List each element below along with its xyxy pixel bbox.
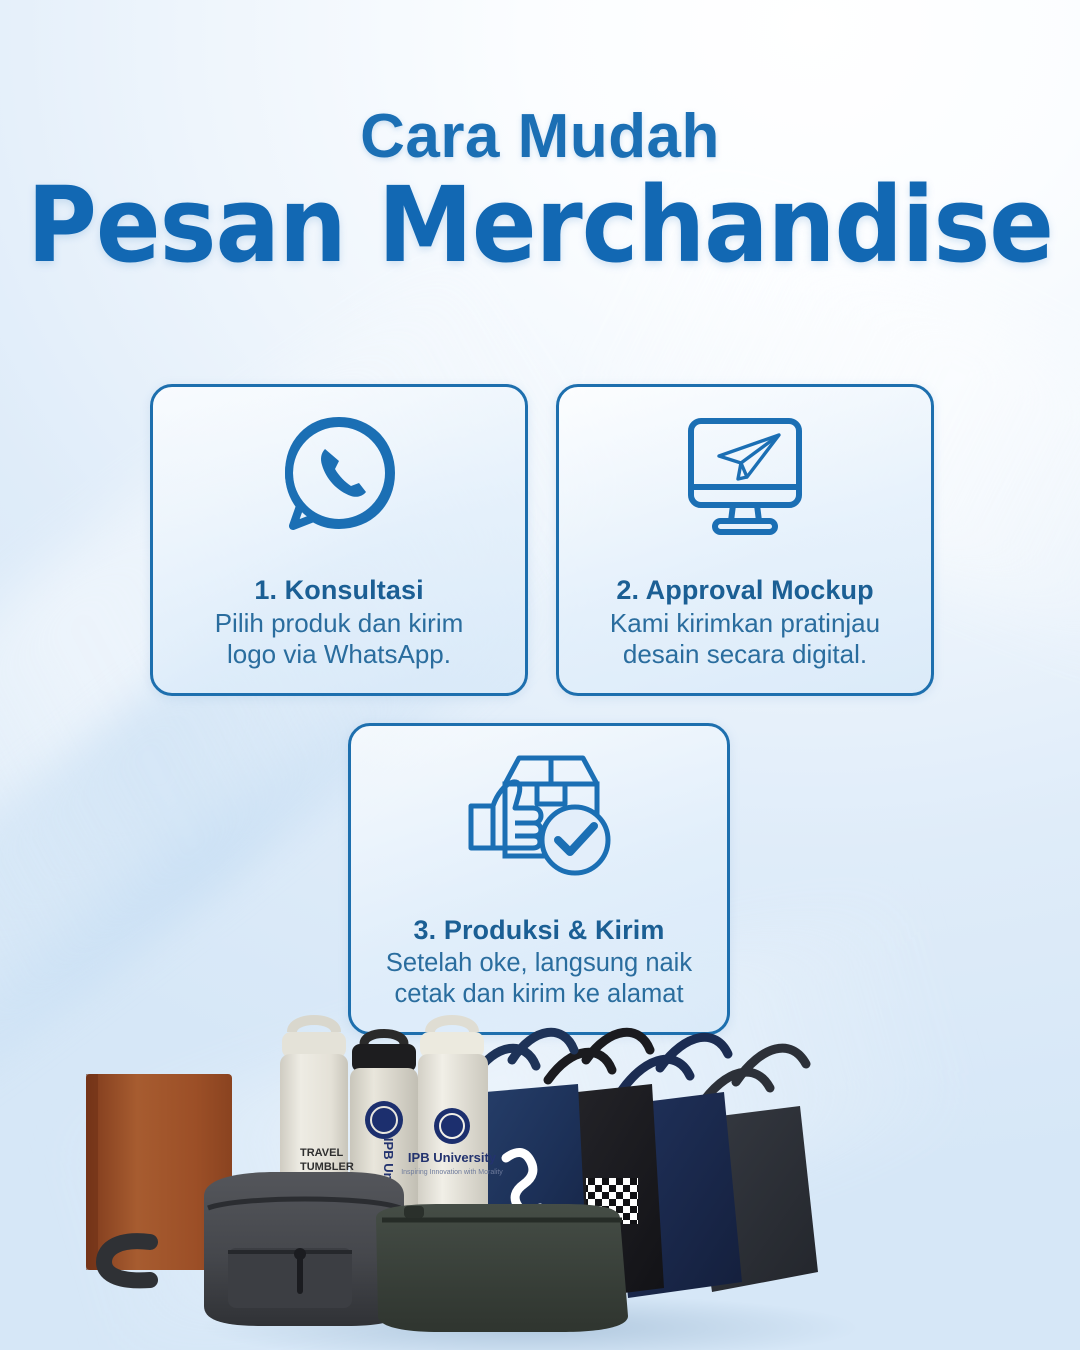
step-card-2[interactable]: 2. Approval Mockup Kami kirimkan pratinj… [556, 384, 934, 696]
step-card-1-title: 1. Konsultasi [163, 575, 515, 606]
whatsapp-phone-icon [153, 409, 525, 541]
step-card-3[interactable]: 3. Produksi & Kirim Setelah oke, langsun… [348, 723, 730, 1035]
step-card-3-text: 3. Produksi & Kirim Setelah oke, langsun… [361, 915, 717, 1010]
step-card-2-body-line1: Kami kirimkan pratinjau [569, 608, 921, 640]
step-card-2-title: 2. Approval Mockup [569, 575, 921, 606]
flat-pouch-dark-green [376, 1204, 628, 1332]
svg-text:IPB University: IPB University [408, 1150, 497, 1165]
monitor-paper-plane-icon [559, 409, 931, 541]
step-card-1-body-line1: Pilih produk dan kirim [163, 608, 515, 640]
product-photo: IPB University TRAVEL TUMBLER 500ML IPB … [0, 1010, 1080, 1350]
poster-canvas: Cara Mudah Pesan Merchandise 1. Konsulta… [0, 0, 1080, 1350]
step-card-3-body-line2: cetak dan kirim ke alamat [361, 979, 717, 1010]
package-thumbs-up-check-icon [351, 748, 727, 880]
svg-text:TUMBLER: TUMBLER [300, 1161, 354, 1173]
step-card-2-text: 2. Approval Mockup Kami kirimkan pratinj… [569, 575, 921, 671]
step-card-1-text: 1. Konsultasi Pilih produk dan kirim log… [163, 575, 515, 671]
svg-text:TRAVEL: TRAVEL [300, 1147, 343, 1159]
svg-text:Inspiring Innovation with Mora: Inspiring Innovation with Morality [401, 1169, 503, 1176]
step-card-2-body-line2: desain secara digital. [569, 639, 921, 671]
step-card-3-body-line1: Setelah oke, langsung naik [361, 948, 717, 979]
step-card-3-title: 3. Produksi & Kirim [361, 915, 717, 946]
step-card-1[interactable]: 1. Konsultasi Pilih produk dan kirim log… [150, 384, 528, 696]
step-card-1-body-line2: logo via WhatsApp. [163, 639, 515, 671]
